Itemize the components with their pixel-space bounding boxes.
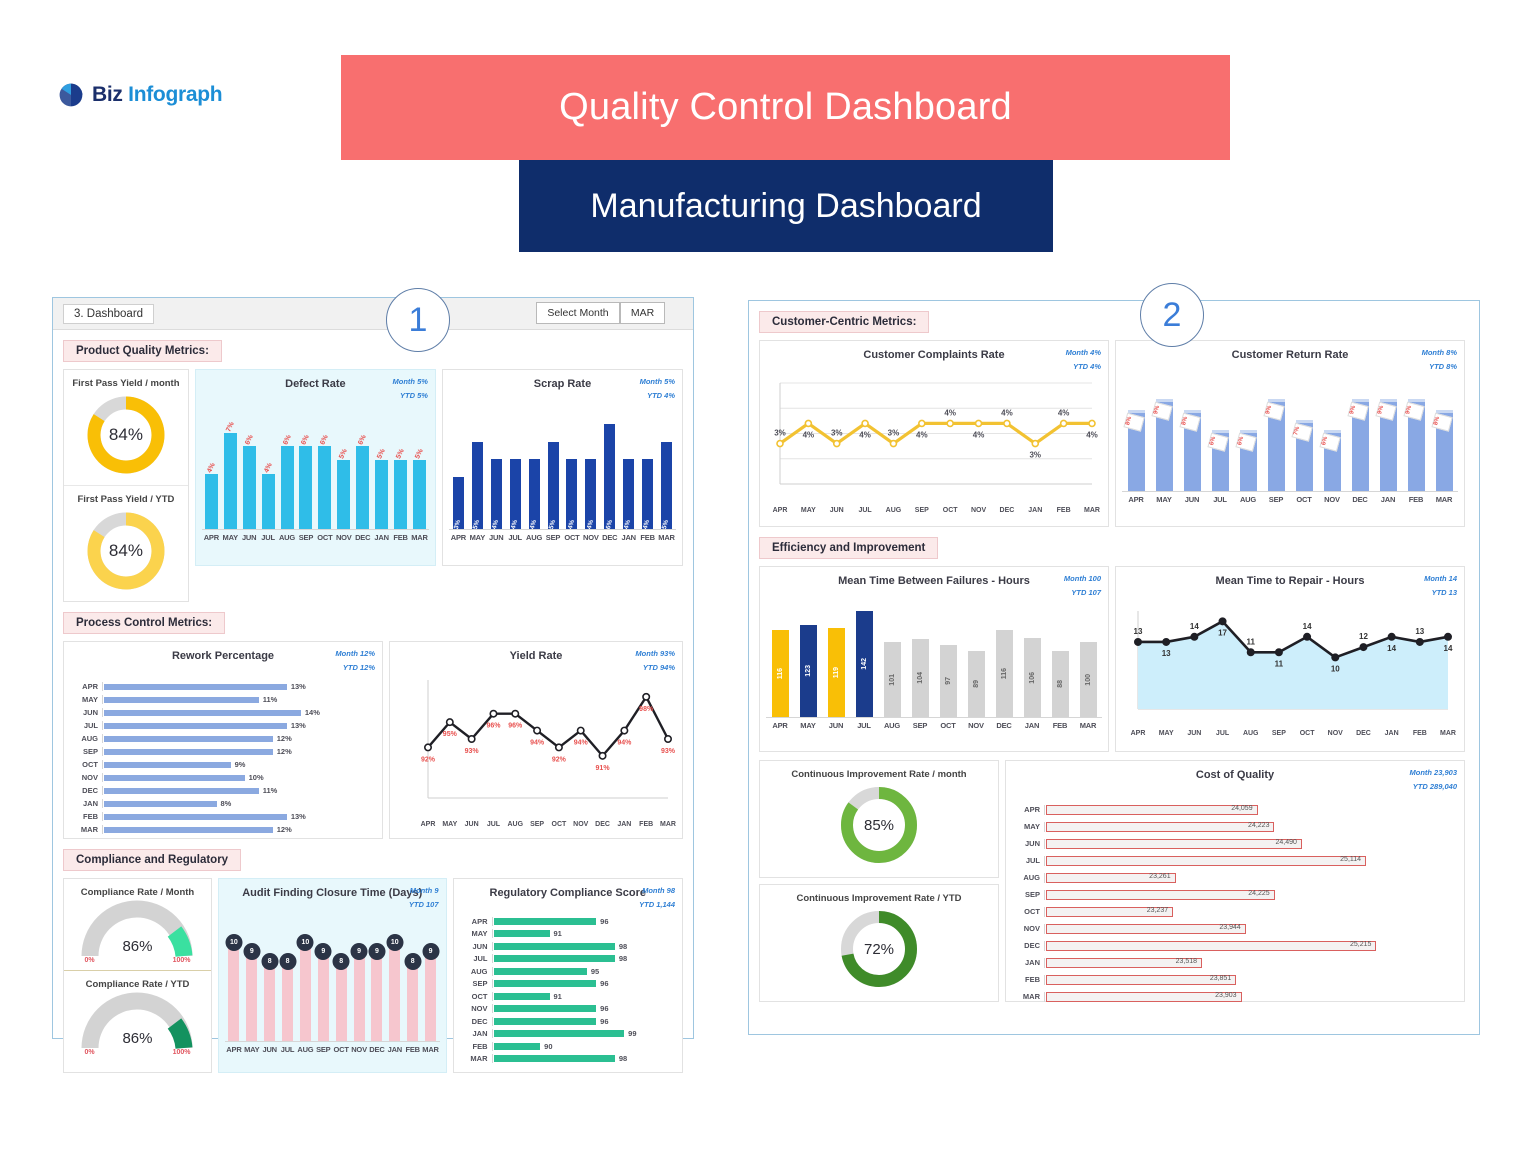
- bar: [494, 955, 615, 962]
- bar-value-label: 98: [619, 954, 627, 963]
- brand-name-2: Infograph: [128, 83, 222, 106]
- bar-column: 89: [962, 651, 990, 717]
- mtbf-badge-month: Month 100: [1064, 572, 1101, 586]
- bar: 9%: [1156, 399, 1173, 491]
- axis-tick-label: SEP: [915, 507, 929, 514]
- axis-tick-label: FEB: [1413, 730, 1427, 737]
- bar-value-label: 8%: [1179, 413, 1200, 432]
- data-point-label: 94%: [574, 740, 589, 747]
- axis-tick-label: SEP: [530, 821, 544, 828]
- axis-tick-label: DEC: [1346, 495, 1374, 504]
- bar: 116: [772, 630, 789, 717]
- ci-month-value: 85%: [836, 782, 922, 868]
- bar: 23,851: [1046, 975, 1236, 985]
- data-point-label: 4%: [916, 430, 928, 439]
- bar: [494, 1018, 597, 1025]
- bar: [318, 446, 331, 529]
- axis-tick-label: AUG: [72, 734, 102, 743]
- bar-value-label: 91: [554, 929, 562, 938]
- axis-tick-label: JUN: [1178, 495, 1206, 504]
- axis-tick-label: JAN: [72, 799, 102, 808]
- bar: [104, 710, 301, 716]
- gauge-max: 100%: [173, 957, 191, 964]
- bar-column: 4%: [487, 459, 506, 529]
- bar: 9: [246, 952, 257, 1041]
- bar: 6%: [1324, 430, 1341, 491]
- bar-column: 123: [794, 625, 822, 717]
- data-point: [976, 420, 982, 426]
- section-process-control: Process Control Metrics:: [63, 612, 225, 634]
- bar-value-label: 6%: [605, 519, 614, 530]
- bar-value-label: 23,903: [1215, 992, 1236, 999]
- axis-tick-label: MAR: [422, 1045, 440, 1054]
- rework-plot: APR13%MAY11%JUN14%JUL13%AUG12%SEP12%OCT9…: [70, 678, 376, 838]
- page-title: Quality Control Dashboard: [341, 55, 1230, 160]
- axis-tick-label: SEP: [1262, 495, 1290, 504]
- bar-value-label: 9%: [1347, 402, 1368, 421]
- bar-row: OCT23,237: [1014, 903, 1454, 920]
- bar: [494, 968, 587, 975]
- bar-column: 116: [766, 630, 794, 717]
- axis-tick-label: NOV: [462, 1004, 492, 1013]
- card-first-pass-yield: First Pass Yield / month 84% First Pass …: [63, 369, 189, 602]
- bar: 9: [425, 952, 436, 1041]
- bar-row: MAY91: [462, 928, 673, 941]
- bar: 5%: [548, 442, 559, 529]
- data-point-label: 4%: [973, 430, 985, 439]
- bar-row: JUN98: [462, 940, 673, 953]
- axis-tick-label: MAR: [1084, 507, 1100, 514]
- bar-value-label: 4%: [643, 519, 652, 530]
- data-point: [425, 744, 431, 750]
- improvement-cost-row: Continuous Improvement Rate / month 85% …: [749, 760, 1479, 1002]
- data-point-label: 10: [1331, 664, 1340, 673]
- axis-tick-label: SEP: [1014, 890, 1044, 899]
- axis-tick-label: JAN: [372, 533, 391, 542]
- bar-column: 6%: [1318, 430, 1346, 491]
- axis-tick-label: JUL: [279, 1045, 297, 1054]
- pie-chart-icon: [58, 82, 84, 108]
- bar-value-label: 13%: [291, 721, 306, 730]
- axis-tick-label: JAN: [1028, 507, 1042, 514]
- bar-value-label: 24,225: [1248, 890, 1269, 897]
- data-point-label: 17: [1218, 628, 1227, 637]
- axis-tick-label: MAY: [243, 1045, 261, 1054]
- bar-column: 4%: [506, 459, 525, 529]
- bar-value-marker: 8: [279, 953, 296, 970]
- regulatory-badges: Month 98 YTD 1,144: [639, 884, 675, 913]
- axis-tick-label: AUG: [886, 507, 902, 514]
- bar-column: 5%: [372, 449, 391, 529]
- yield-badge-month: Month 93%: [635, 647, 675, 661]
- axis-tick-label: AUG: [878, 721, 906, 730]
- axis-tick-label: JUN: [822, 721, 850, 730]
- bar-column: 9: [368, 952, 386, 1041]
- bar: 7%: [1296, 420, 1313, 491]
- bar: [262, 474, 275, 529]
- bar: 4%: [623, 459, 634, 529]
- bar: [224, 433, 237, 529]
- bar: [104, 801, 217, 807]
- compliance-month-gauge: 86% 0% 100%: [64, 898, 211, 964]
- data-point-label: 3%: [831, 429, 843, 438]
- data-point: [805, 420, 811, 426]
- data-point: [890, 441, 896, 447]
- sheet-tab-dashboard[interactable]: 3. Dashboard: [63, 304, 154, 324]
- bar: 6%: [604, 424, 615, 529]
- select-month-label[interactable]: Select Month: [536, 302, 620, 324]
- axis-tick-label: MAY: [1159, 730, 1174, 737]
- bar: [104, 775, 245, 781]
- data-point-label: 14: [1444, 644, 1453, 653]
- data-point-label: 95%: [443, 731, 458, 738]
- bar: [494, 1055, 615, 1062]
- bar-value-label: 98: [619, 942, 627, 951]
- scrap-rate-badge-month: Month 5%: [640, 375, 675, 389]
- scrap-rate-plot: 3%5%4%4%4%5%4%4%6%4%4%5%: [449, 394, 676, 529]
- bar-value-label: 8%: [1431, 413, 1452, 432]
- compliance-ytd-value: 86%: [64, 1030, 211, 1047]
- axis-tick-label: APR: [421, 821, 436, 828]
- bar-row: MAR23,903: [1014, 988, 1454, 1005]
- compliance-row: Compliance Rate / Month 86% 0% 100% Comp…: [53, 878, 693, 1073]
- bar-column: 4%: [259, 463, 278, 529]
- axis-tick-label: APR: [449, 533, 468, 542]
- fpy-month-block: First Pass Yield / month 84%: [64, 370, 188, 486]
- compliance-ytd-scale: 0% 100%: [84, 1049, 190, 1056]
- bar: 100: [1080, 642, 1097, 717]
- axis-tick-label: JUN: [240, 533, 259, 542]
- bar-value-label: 5%: [338, 448, 349, 460]
- bar-column: 4%: [619, 459, 638, 529]
- data-point: [556, 744, 562, 750]
- bar-value-label: 5%: [395, 448, 406, 460]
- bar-column: 104: [906, 639, 934, 717]
- data-point-label: 13: [1134, 627, 1143, 636]
- bar-column: 100: [1074, 642, 1102, 717]
- bar: 101: [884, 642, 901, 717]
- axis-tick-label: JAN: [1018, 721, 1046, 730]
- brand-text: Biz Infograph: [92, 83, 222, 107]
- axis-tick-label: JUL: [850, 721, 878, 730]
- bar: [494, 943, 615, 950]
- bar: 119: [828, 628, 845, 717]
- bar-column: 6%: [296, 435, 315, 529]
- bar-value-label: 4%: [530, 519, 539, 530]
- bar-column: 6%: [600, 424, 619, 529]
- compliance-ytd-gauge: 86% 0% 100%: [64, 990, 211, 1056]
- axis-tick-label: OCT: [562, 533, 581, 542]
- axis-tick-label: JAN: [386, 1045, 404, 1054]
- axis-tick-label: JAN: [1374, 495, 1402, 504]
- page-marker-2: 2: [1140, 283, 1204, 347]
- bar-value-label: 5%: [473, 519, 482, 530]
- axis-tick-label: OCT: [1290, 495, 1318, 504]
- data-point: [919, 420, 925, 426]
- bar-row: DEC25,215: [1014, 937, 1454, 954]
- bar: [494, 1030, 625, 1037]
- bar-value-label: 88: [1057, 680, 1064, 688]
- bar-value-label: 96: [600, 1017, 608, 1026]
- bar-value-label: 6%: [1319, 433, 1340, 452]
- axis-tick-label: DEC: [72, 786, 102, 795]
- bar: 89: [968, 651, 985, 717]
- customer-centric-row: Customer Complaints Rate Month 4% YTD 4%…: [749, 340, 1479, 527]
- bar-value-label: 9%: [1403, 402, 1424, 421]
- bar-value-label: 142: [861, 658, 868, 670]
- data-point-label: 14: [1303, 622, 1312, 631]
- card-defect-rate: Defect Rate Month 5% YTD 5% 4%7%6%4%6%6%…: [195, 369, 436, 566]
- card-compliance-rate: Compliance Rate / Month 86% 0% 100% Comp…: [63, 878, 212, 1073]
- axis-tick-label: APR: [225, 1045, 243, 1054]
- rework-badge-ytd: YTD 12%: [335, 661, 375, 675]
- bar-row: MAR98: [462, 1053, 673, 1066]
- complaints-badge-month: Month 4%: [1066, 346, 1101, 360]
- bar-row: NOV96: [462, 1003, 673, 1016]
- bar-value-marker: 8: [333, 953, 350, 970]
- bar: [104, 788, 259, 794]
- bar: 123: [800, 625, 817, 717]
- bar-column: 6%: [240, 435, 259, 529]
- bar-column: 9%: [1374, 399, 1402, 491]
- data-point-label: 12: [1359, 632, 1368, 641]
- bar-value-label: 9%: [1263, 402, 1284, 421]
- bar: 23,261: [1046, 873, 1176, 883]
- bar-value-marker: 10: [225, 934, 242, 951]
- data-point: [1135, 639, 1141, 645]
- bar: 23,903: [1046, 992, 1242, 1002]
- bar-value-label: 4%: [206, 462, 217, 474]
- bar-column: 97: [934, 645, 962, 717]
- data-point: [1388, 634, 1394, 640]
- bar-value-label: 7%: [1291, 423, 1312, 442]
- bar: 24,223: [1046, 822, 1274, 832]
- bar-column: 6%: [1234, 430, 1262, 491]
- axis-tick-label: APR: [1131, 730, 1146, 737]
- complaints-title: Customer Complaints Rate: [766, 347, 1102, 361]
- axis-tick-label: OCT: [462, 992, 492, 1001]
- bar: 5%: [472, 442, 483, 529]
- bar: 9: [354, 952, 365, 1041]
- bar-column: 6%: [315, 435, 334, 529]
- data-point-label: 4%: [1086, 430, 1098, 439]
- bar: [494, 1005, 597, 1012]
- bar-column: 106: [1018, 638, 1046, 717]
- data-point: [1276, 649, 1282, 655]
- data-point-label: 96%: [508, 723, 523, 730]
- data-point: [621, 727, 627, 733]
- bar-value-label: 116: [1001, 668, 1008, 679]
- bar-row: FEB90: [462, 1040, 673, 1053]
- bar-row: SEP96: [462, 978, 673, 991]
- bar-row: MAY11%: [72, 693, 372, 706]
- data-line: [428, 697, 668, 756]
- bar: 23,237: [1046, 907, 1173, 917]
- bar: 106: [1024, 638, 1041, 717]
- ci-month-title: Continuous Improvement Rate / month: [766, 767, 992, 780]
- bar-value-label: 123: [805, 665, 812, 677]
- axis-tick-label: MAR: [1430, 495, 1458, 504]
- axis-tick-label: DEC: [595, 821, 610, 828]
- axis-tick-label: FEB: [639, 821, 653, 828]
- axis-tick-label: AUG: [1243, 730, 1259, 737]
- ci-ytd-value: 72%: [836, 906, 922, 992]
- axis-tick-label: JUL: [462, 954, 492, 963]
- bar-value-label: 13%: [291, 682, 306, 691]
- bar-row: DEC11%: [72, 784, 372, 797]
- bar: 10: [300, 943, 311, 1041]
- bar-row: SEP24,225: [1014, 886, 1454, 903]
- axis-tick-label: SEP: [1272, 730, 1286, 737]
- bar-row: OCT91: [462, 990, 673, 1003]
- bar: [104, 723, 287, 729]
- audit-badge-month: Month 9: [409, 884, 439, 898]
- bar-column: 116: [990, 630, 1018, 717]
- bar-column: 4%: [525, 459, 544, 529]
- axis-tick-label: JUN: [1187, 730, 1201, 737]
- axis-tick-label: AUG: [278, 533, 297, 542]
- axis-tick-label: FEB: [404, 1045, 422, 1054]
- data-point-label: 13: [1162, 649, 1171, 658]
- data-point-label: 14: [1387, 644, 1396, 653]
- axis-tick-label: MAR: [660, 821, 676, 828]
- axis-tick-label: JUL: [1014, 856, 1044, 865]
- bar-value-label: 12%: [277, 825, 292, 834]
- axis-tick-label: DEC: [990, 721, 1018, 730]
- data-point-label: 4%: [1001, 408, 1013, 417]
- dashboard-panel-2: Customer-Centric Metrics: Customer Compl…: [748, 300, 1480, 1035]
- axis-tick-label: DEC: [368, 1045, 386, 1054]
- axis-tick-label: AUG: [525, 533, 544, 542]
- regulatory-plot: APR96MAY91JUN98JUL98AUG95SEP96OCT91NOV96…: [460, 913, 677, 1067]
- bar-value-marker: 8: [261, 953, 278, 970]
- bar-column: 4%: [562, 459, 581, 529]
- bar-column: 7%: [1290, 420, 1318, 491]
- axis-tick-label: FEB: [72, 812, 102, 821]
- bar: 4%: [566, 459, 577, 529]
- axis-tick-label: APR: [1014, 805, 1044, 814]
- compliance-month-scale: 0% 100%: [84, 957, 190, 964]
- bar-row: JAN99: [462, 1028, 673, 1041]
- card-scrap-rate: Scrap Rate Month 5% YTD 4% 3%5%4%4%4%5%4…: [442, 369, 683, 566]
- section-customer-centric: Customer-Centric Metrics:: [759, 311, 929, 333]
- axis-tick-label: NOV: [1014, 924, 1044, 933]
- bar: 104: [912, 639, 929, 717]
- yield-title: Yield Rate: [396, 648, 676, 662]
- bar-value-label: 25,114: [1340, 856, 1361, 863]
- audit-xaxis: APRMAYJUNJULAUGSEPOCTNOVDECJANFEBMAR: [225, 1041, 440, 1054]
- fpy-ytd-value: 84%: [84, 509, 168, 593]
- axis-tick-label: DEC: [1356, 730, 1371, 737]
- select-month-value[interactable]: MAR: [620, 302, 665, 324]
- bar-column: 4%: [581, 459, 600, 529]
- bar-value-label: 11%: [263, 695, 278, 704]
- axis-tick-label: JUN: [465, 821, 479, 828]
- bar-value-label: 23,851: [1210, 975, 1231, 982]
- axis-tick-label: JUL: [487, 821, 501, 828]
- bar-column: 10: [386, 943, 404, 1041]
- bar-row: JUL25,114: [1014, 852, 1454, 869]
- regulatory-badge-ytd: YTD 1,144: [639, 898, 675, 912]
- bar: 8: [264, 962, 275, 1041]
- axis-tick-label: APR: [1122, 495, 1150, 504]
- defect-rate-badge-month: Month 5%: [393, 375, 428, 389]
- section-product-quality: Product Quality Metrics:: [63, 340, 222, 362]
- bar-column: 142: [850, 611, 878, 717]
- rework-badges: Month 12% YTD 12%: [335, 647, 375, 676]
- data-point: [643, 694, 649, 700]
- yield-plot: 92%95%93%96%96%94%92%94%91%94%98%93%APRM…: [396, 662, 676, 830]
- bar-value-label: 106: [1029, 672, 1036, 684]
- data-point-label: 92%: [421, 756, 436, 763]
- mtbf-xaxis: APRMAYJUNJULAUGSEPOCTNOVDECJANFEBMAR: [766, 717, 1102, 730]
- axis-tick-label: NOV: [962, 721, 990, 730]
- axis-tick-label: MAR: [72, 825, 102, 834]
- bar: [104, 749, 273, 755]
- bar-value-label: 99: [628, 1029, 636, 1038]
- bar-column: 8: [332, 962, 350, 1041]
- bar-value-label: 4%: [586, 519, 595, 530]
- bar-value-label: 5%: [376, 448, 387, 460]
- bar-value-label: 25,215: [1350, 941, 1371, 948]
- coq-plot: APR24,059MAY24,223JUN24,490JUL25,114AUG2…: [1012, 799, 1458, 1007]
- bar-value-label: 23,944: [1219, 924, 1240, 931]
- bar-value-label: 23,518: [1176, 958, 1197, 965]
- card-mttr: Mean Time to Repair - Hours Month 14 YTD…: [1115, 566, 1465, 752]
- bar-value-label: 119: [833, 667, 840, 678]
- axis-tick-label: MAR: [657, 533, 676, 542]
- data-point: [512, 711, 518, 717]
- bar: 4%: [585, 459, 596, 529]
- bar-row: JUL98: [462, 953, 673, 966]
- bar-column: 4%: [202, 463, 221, 529]
- axis-tick-label: JUN: [487, 533, 506, 542]
- data-point: [534, 727, 540, 733]
- dashboard-panel-1: 3. Dashboard Select Month MAR Product Qu…: [52, 297, 694, 1039]
- axis-tick-label: NOV: [72, 773, 102, 782]
- axis-tick-label: JUN: [462, 942, 492, 951]
- bar-value-label: 104: [917, 672, 924, 684]
- fpy-ytd-donut: 84%: [64, 505, 188, 593]
- audit-title: Audit Finding Closure Time (Days): [225, 885, 440, 899]
- bar-column: 9%: [1346, 399, 1374, 491]
- bar-value-label: 7%: [225, 421, 236, 433]
- axis-tick-label: AUG: [462, 967, 492, 976]
- bar: 8: [336, 962, 347, 1041]
- bar-value-marker: 8: [404, 953, 421, 970]
- bar-row: OCT9%: [72, 758, 372, 771]
- bar-value-marker: 9: [243, 943, 260, 960]
- card-rework-percentage: Rework Percentage Month 12% YTD 12% APR1…: [63, 641, 383, 839]
- bar: [494, 918, 597, 925]
- complaints-plot: 3%4%3%4%3%4%4%4%4%3%4%4%APRMAYJUNJULAUGS…: [766, 361, 1102, 516]
- card-regulatory-score: Regulatory Compliance Score Month 98 YTD…: [453, 878, 684, 1073]
- data-point: [1332, 654, 1338, 660]
- axis-tick-label: DEC: [600, 533, 619, 542]
- bar-column: 101: [878, 642, 906, 717]
- bar-value-label: 23,261: [1149, 873, 1170, 880]
- axis-tick-label: AUG: [1234, 495, 1262, 504]
- ci-month-donut: 85%: [766, 780, 992, 868]
- month-picker[interactable]: Select Month MAR: [536, 302, 665, 324]
- coq-badges: Month 23,903 YTD 289,040: [1409, 766, 1457, 795]
- data-point-label: 93%: [661, 748, 676, 755]
- fpy-month-donut: 84%: [64, 389, 188, 477]
- bar-value-label: 8%: [221, 799, 232, 808]
- bar-row: MAY24,223: [1014, 818, 1454, 835]
- data-point: [1032, 441, 1038, 447]
- axis-tick-label: MAY: [468, 533, 487, 542]
